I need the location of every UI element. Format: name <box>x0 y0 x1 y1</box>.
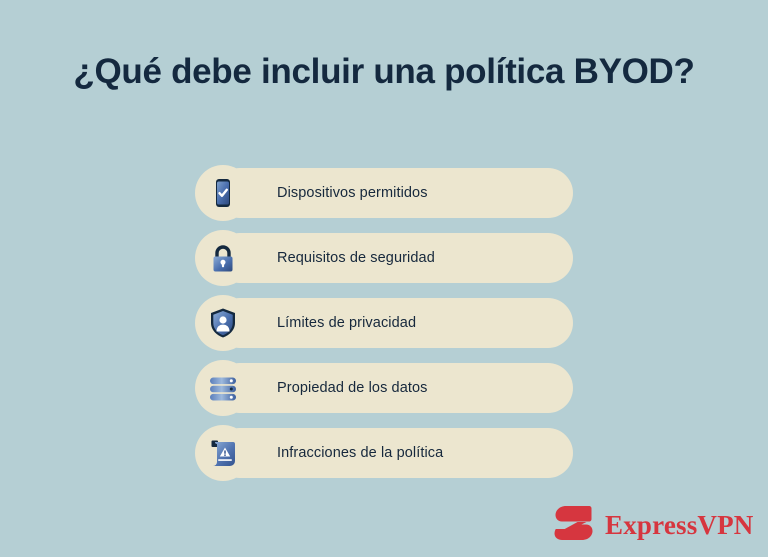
list-item-pill: Propiedad de los datos <box>215 363 573 413</box>
list-item-badge <box>195 295 251 351</box>
list-item[interactable]: Infracciones de la política <box>195 425 575 481</box>
checklist: Dispositivos permitidos <box>195 165 575 490</box>
list-item-label: Requisitos de seguridad <box>277 250 435 266</box>
list-item-pill: Límites de privacidad <box>215 298 573 348</box>
list-item-badge <box>195 360 251 416</box>
list-item-label: Límites de privacidad <box>277 315 416 331</box>
byod-policy-infographic: ¿Qué debe incluir una política BYOD? Dis… <box>0 0 768 557</box>
list-item-pill: Infracciones de la política <box>215 428 573 478</box>
expressvpn-logo: ExpressVPN <box>553 503 754 548</box>
list-item[interactable]: Dispositivos permitidos <box>195 165 575 221</box>
list-item-badge <box>195 230 251 286</box>
list-item-badge <box>195 425 251 481</box>
expressvpn-e-logo-icon <box>553 503 595 548</box>
list-item[interactable]: Propiedad de los datos <box>195 360 575 416</box>
server-stack-icon <box>206 371 240 405</box>
list-item[interactable]: Límites de privacidad <box>195 295 575 351</box>
list-item-pill: Requisitos de seguridad <box>215 233 573 283</box>
list-item-label: Infracciones de la política <box>277 445 443 461</box>
shield-person-icon <box>206 306 240 340</box>
list-item[interactable]: Requisitos de seguridad <box>195 230 575 286</box>
expressvpn-wordmark: ExpressVPN <box>605 512 754 539</box>
document-warning-icon <box>206 436 240 470</box>
page-title: ¿Qué debe incluir una política BYOD? <box>0 52 768 92</box>
padlock-icon <box>206 241 240 275</box>
smartphone-check-icon <box>206 176 240 210</box>
list-item-badge <box>195 165 251 221</box>
list-item-label: Dispositivos permitidos <box>277 185 428 201</box>
list-item-pill: Dispositivos permitidos <box>215 168 573 218</box>
list-item-label: Propiedad de los datos <box>277 380 428 396</box>
